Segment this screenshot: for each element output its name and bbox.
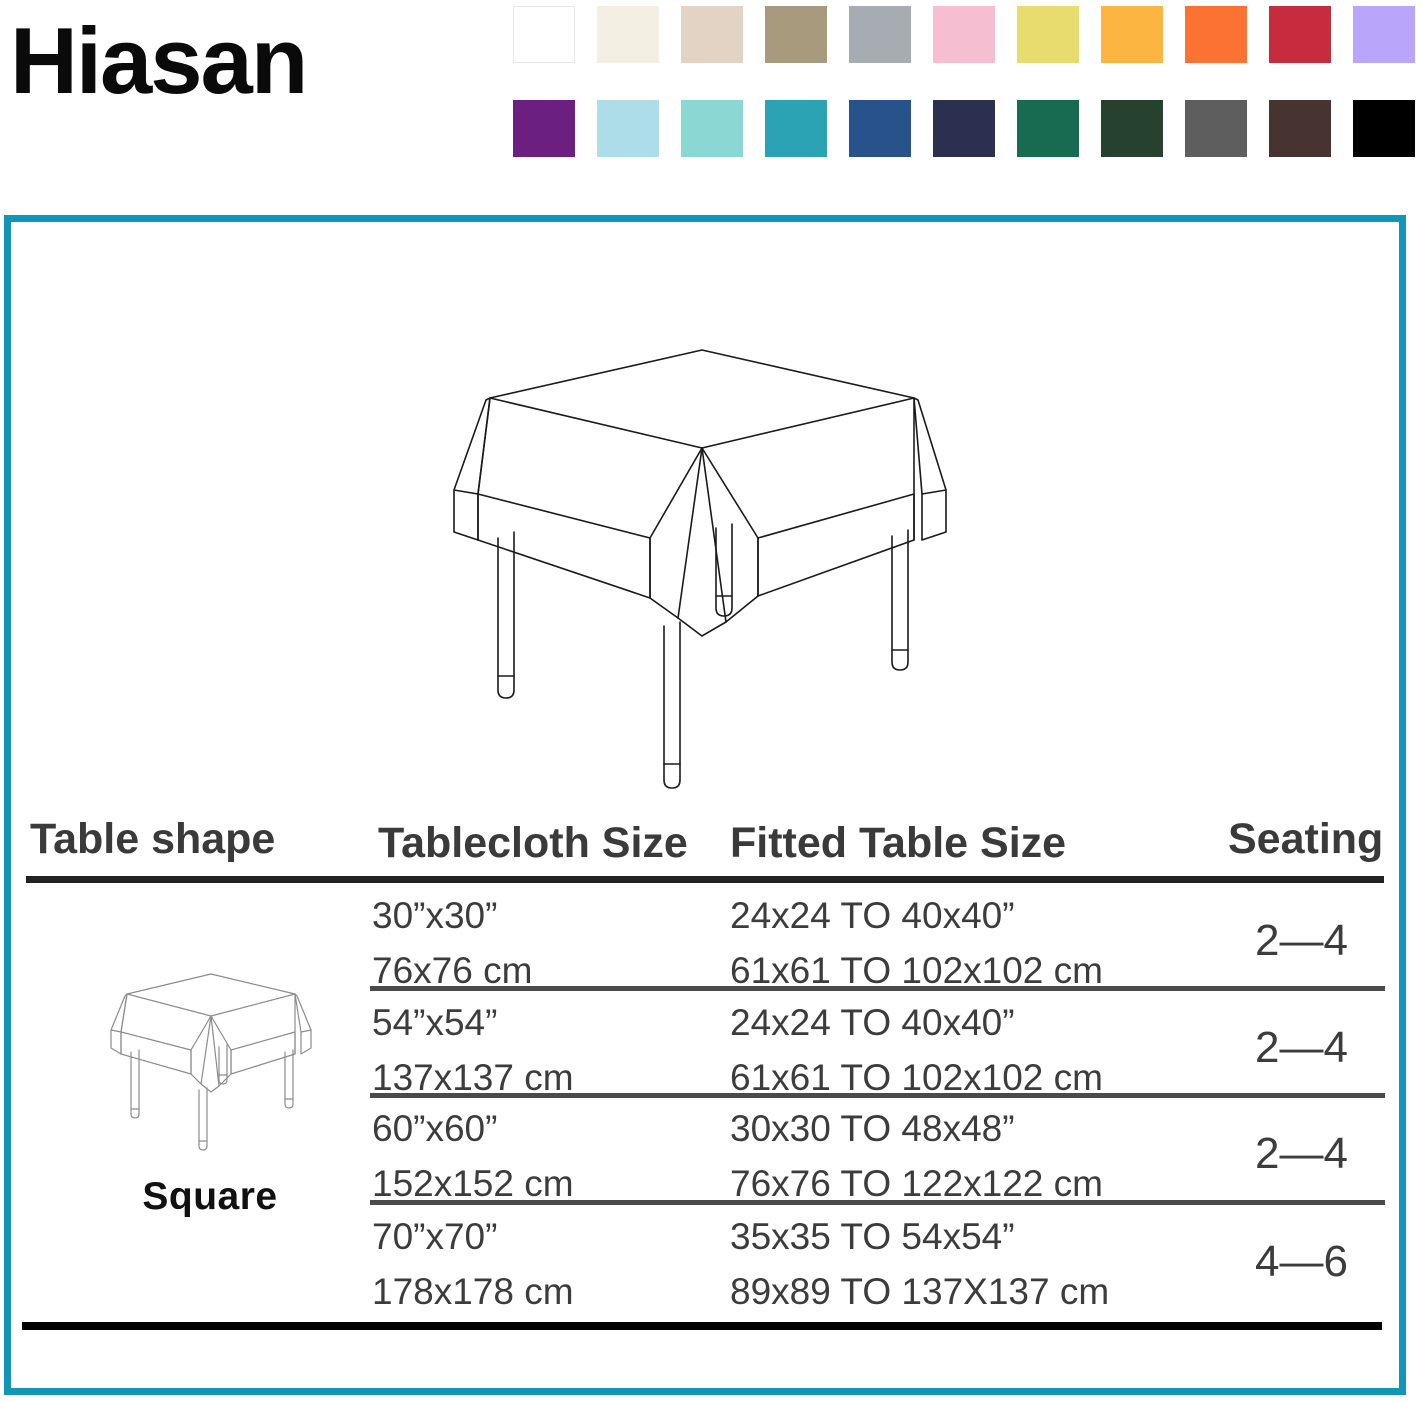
header-divider-rule — [26, 876, 1384, 883]
color-swatch-hunter-green[interactable] — [1101, 100, 1163, 157]
color-swatch-baby-blue[interactable] — [597, 100, 659, 157]
cell-tablecloth-size-cm: 76x76 cm — [372, 952, 532, 989]
color-swatch-brown[interactable] — [1269, 100, 1331, 157]
table-row: 70”x70”178x178 cm35x35 TO 54x54”89x89 TO… — [0, 1218, 1416, 1318]
color-swatch-teal[interactable] — [765, 100, 827, 157]
color-swatch-ivory[interactable] — [597, 6, 659, 63]
table-row: 54”x54”137x137 cm24x24 TO 40x40”61x61 TO… — [0, 1004, 1416, 1104]
color-swatch-emerald-green[interactable] — [1017, 100, 1079, 157]
color-swatch-gold[interactable] — [1101, 6, 1163, 63]
color-swatch-row-2 — [513, 100, 1413, 157]
cell-seating: 2—4 — [1255, 1026, 1348, 1070]
color-swatch-navy-blue[interactable] — [849, 100, 911, 157]
cell-seating: 4—6 — [1255, 1240, 1348, 1284]
color-swatch-pink[interactable] — [933, 6, 995, 63]
cell-tablecloth-size-cm: 152x152 cm — [372, 1165, 574, 1202]
cell-fitted-table-size-cm: 61x61 TO 102x102 cm — [730, 952, 1103, 989]
color-swatch-light-yellow[interactable] — [1017, 6, 1079, 63]
brand-logo: Hiasan — [10, 14, 306, 108]
cell-tablecloth-size-cm: 178x178 cm — [372, 1273, 574, 1310]
row-divider — [370, 1200, 1385, 1205]
row-divider — [370, 986, 1385, 991]
cell-tablecloth-size-inches: 70”x70” — [372, 1218, 497, 1255]
cell-fitted-table-size-cm: 76x76 TO 122x122 cm — [730, 1165, 1103, 1202]
table-bottom-rule — [22, 1322, 1382, 1330]
column-header-tablecloth-size: Tablecloth Size — [378, 822, 688, 865]
cell-tablecloth-size-inches: 60”x60” — [372, 1110, 497, 1147]
color-swatch-beige[interactable] — [681, 6, 743, 63]
color-swatch-dark-navy[interactable] — [933, 100, 995, 157]
color-swatch-purple[interactable] — [513, 100, 575, 157]
cell-tablecloth-size-cm: 137x137 cm — [372, 1059, 574, 1096]
row-divider — [370, 1093, 1385, 1098]
color-swatch-white[interactable] — [513, 6, 575, 63]
square-table-with-tablecloth-illustration — [440, 340, 960, 790]
color-swatch-taupe[interactable] — [765, 6, 827, 63]
table-row: 60”x60”152x152 cm30x30 TO 48x48”76x76 TO… — [0, 1110, 1416, 1210]
column-header-seating: Seating — [1228, 818, 1383, 861]
cell-fitted-table-size-inches: 24x24 TO 40x40” — [730, 1004, 1015, 1041]
color-swatch-silver-gray[interactable] — [849, 6, 911, 63]
cell-fitted-table-size-cm: 61x61 TO 102x102 cm — [730, 1059, 1103, 1096]
color-swatch-aqua[interactable] — [681, 100, 743, 157]
color-swatch-red[interactable] — [1269, 6, 1331, 63]
cell-fitted-table-size-inches: 35x35 TO 54x54” — [730, 1218, 1015, 1255]
cell-fitted-table-size-inches: 24x24 TO 40x40” — [730, 897, 1015, 934]
cell-fitted-table-size-inches: 30x30 TO 48x48” — [730, 1110, 1015, 1147]
color-swatch-lavender[interactable] — [1353, 6, 1415, 63]
color-swatch-dark-gray[interactable] — [1185, 100, 1247, 157]
cell-seating: 2—4 — [1255, 1132, 1348, 1176]
color-swatch-black[interactable] — [1353, 100, 1415, 157]
column-header-fitted-table-size: Fitted Table Size — [730, 822, 1066, 865]
cell-tablecloth-size-inches: 54”x54” — [372, 1004, 497, 1041]
cell-fitted-table-size-cm: 89x89 TO 137X137 cm — [730, 1273, 1109, 1310]
color-swatch-palette — [513, 6, 1413, 171]
cell-seating: 2—4 — [1255, 919, 1348, 963]
cell-tablecloth-size-inches: 30”x30” — [372, 897, 497, 934]
color-swatch-orange[interactable] — [1185, 6, 1247, 63]
table-row: 30”x30”76x76 cm24x24 TO 40x40”61x61 TO 1… — [0, 897, 1416, 997]
color-swatch-row-1 — [513, 6, 1413, 63]
column-header-table-shape: Table shape — [30, 818, 275, 861]
